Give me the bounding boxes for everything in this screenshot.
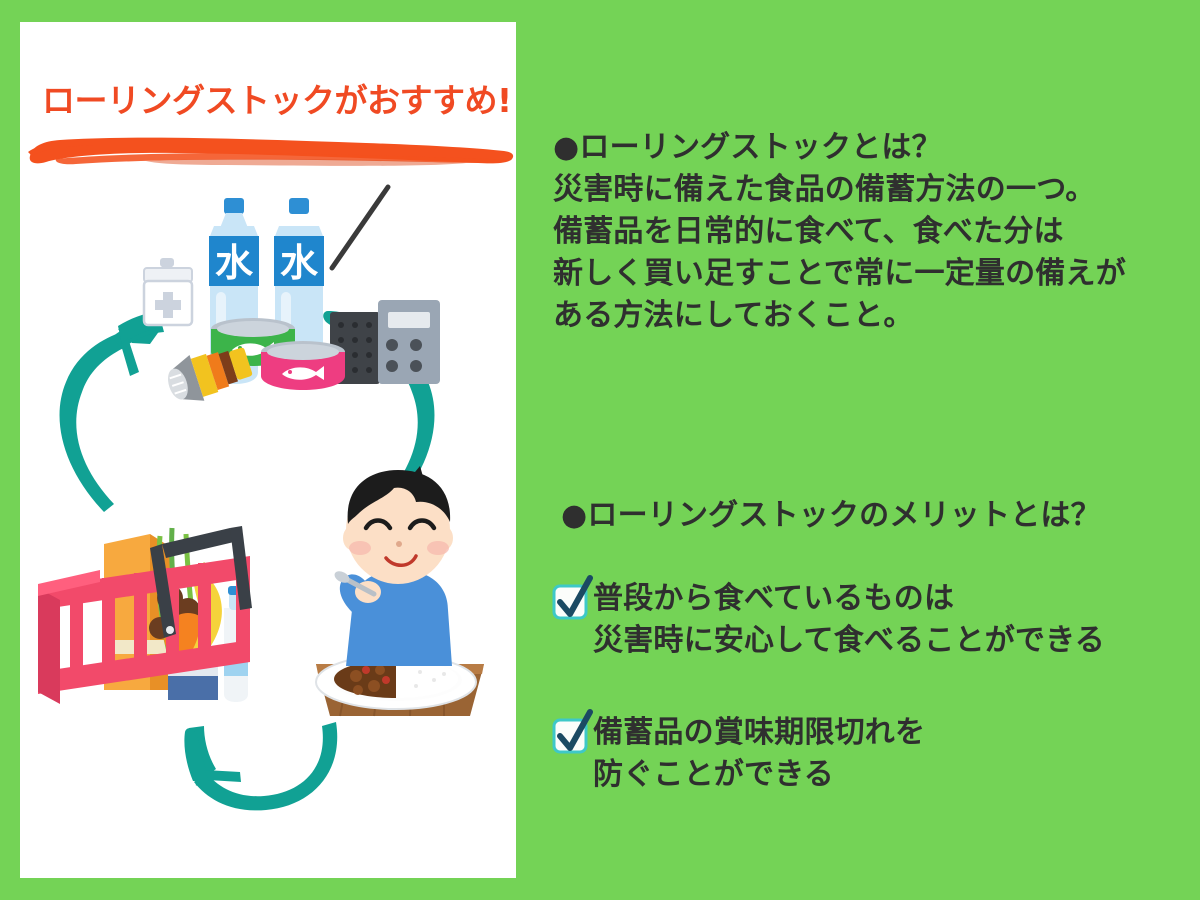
svg-text:水: 水 (215, 241, 254, 285)
radio-icon (330, 187, 440, 384)
intro-block: ●ローリングストックとは？ 災害時に備えた食品の備蓄方法の一つ。 備蓄品を日常的… (553, 127, 1126, 337)
boy-eating-curry-rice-icon (316, 466, 484, 716)
rolling-stock-cycle-illustration: 水 水 (0, 0, 496, 856)
intro-heading: ●ローリングストックとは？ (553, 127, 1126, 169)
merit-2-line-1: 備蓄品の賞味期限切れを (593, 712, 925, 754)
merit-1-line-1: 普段から食べているものは (593, 578, 1105, 620)
arrow-left-up-icon (60, 311, 171, 512)
intro-line-2: 備蓄品を日常的に食べて、食べた分は (553, 211, 1126, 253)
poster-root: ローリングストックがおすすめ! (0, 0, 1200, 900)
text-column: ●ローリングストックとは？ 災害時に備えた食品の備蓄方法の一つ。 備蓄品を日常的… (553, 0, 1193, 900)
merit-item-2: 備蓄品の賞味期限切れを 防ぐことができる (553, 712, 925, 796)
intro-line-1: 災害時に備えた食品の備蓄方法の一つ。 (553, 169, 1126, 211)
shopping-basket-icon (38, 526, 264, 704)
intro-line-3: 新しく買い足すことで常に一定量の備えが (553, 253, 1126, 295)
emergency-supplies-group: 水 水 (144, 187, 440, 410)
checkbox-checked-icon[interactable] (553, 716, 589, 752)
intro-line-4: ある方法にしておくこと。 (553, 295, 1126, 337)
svg-text:水: 水 (280, 241, 319, 285)
merits-heading: ●ローリングストックのメリットとは？ (561, 495, 1101, 537)
merit-item-1: 普段から食べているものは 災害時に安心して食べることができる (553, 578, 1105, 662)
checkbox-checked-icon[interactable] (553, 582, 589, 618)
merit-1-line-2: 災害時に安心して食べることができる (593, 620, 1105, 662)
first-aid-kit-icon (144, 258, 192, 325)
flashlight-icon (162, 338, 256, 409)
canned-fish-pink-icon (261, 341, 345, 390)
merit-2-line-2: 防ぐことができる (593, 754, 925, 796)
arrow-bottom-left-icon (184, 722, 337, 810)
